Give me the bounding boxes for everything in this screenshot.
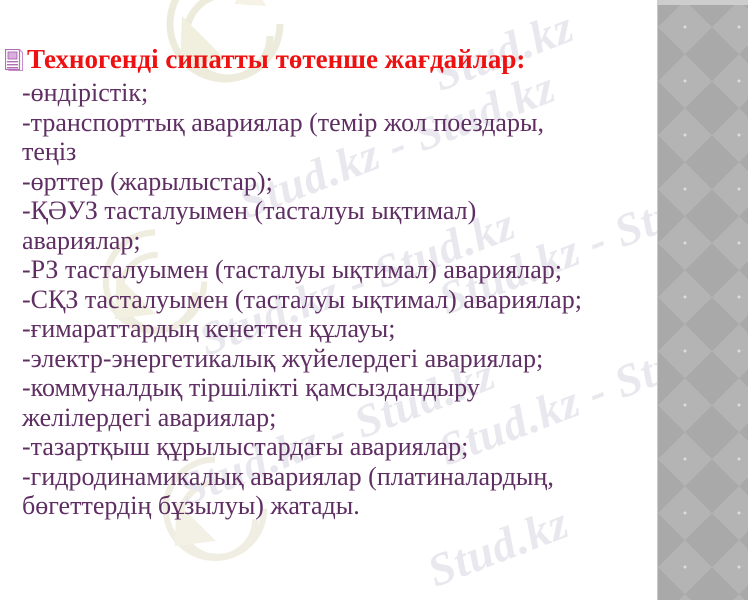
list-item: -ҚӘУЗ тасталуымен (тасталуы ықтимал) [22, 196, 657, 226]
document-icon [5, 49, 23, 71]
list-item: -гидродинамикалық авариялар (платиналард… [22, 462, 657, 492]
diamond-pattern [658, 0, 748, 600]
slide-canvas: Stud.kz Stud.kz - Stud.kz Stud.kz - Stud… [0, 0, 748, 600]
list-item: -коммуналдық тіршілікті қамсыздандыру [22, 373, 657, 403]
panel-top-edge [657, 0, 748, 5]
list-item: -өндірістік; [22, 78, 657, 108]
list-item: бөгеттердің бұзылуы) жатады. [22, 491, 657, 521]
list-item: желілердегі авариялар; [22, 403, 657, 433]
list-item: -РЗ тасталуымен (тасталуы ықтимал) авари… [22, 255, 657, 285]
list-item: -ғимараттардың кенеттен құлауы; [22, 314, 657, 344]
list-item: -транспорттық авариялар (темір жол поезд… [22, 108, 657, 138]
list-item: -электр-энергетикалық жүйелердегі авария… [22, 344, 657, 374]
list-item: -тазартқыш құрылыстардағы авариялар; [22, 432, 657, 462]
page-title: Техногенді сипатты төтенше жағдайлар: [27, 44, 525, 75]
list-item: -өрттер (жарылыстар); [22, 167, 657, 197]
list-item: авариялар; [22, 226, 657, 256]
slide-content: Техногенді сипатты төтенше жағдайлар: -ө… [0, 0, 657, 600]
list-item: теңіз [22, 137, 657, 167]
list-item: -СҚЗ тасталуымен (тасталуы ықтимал) авар… [22, 285, 657, 315]
bullet-list: -өндірістік; -транспорттық авариялар (те… [22, 78, 657, 521]
decorative-side-panel [657, 0, 748, 600]
